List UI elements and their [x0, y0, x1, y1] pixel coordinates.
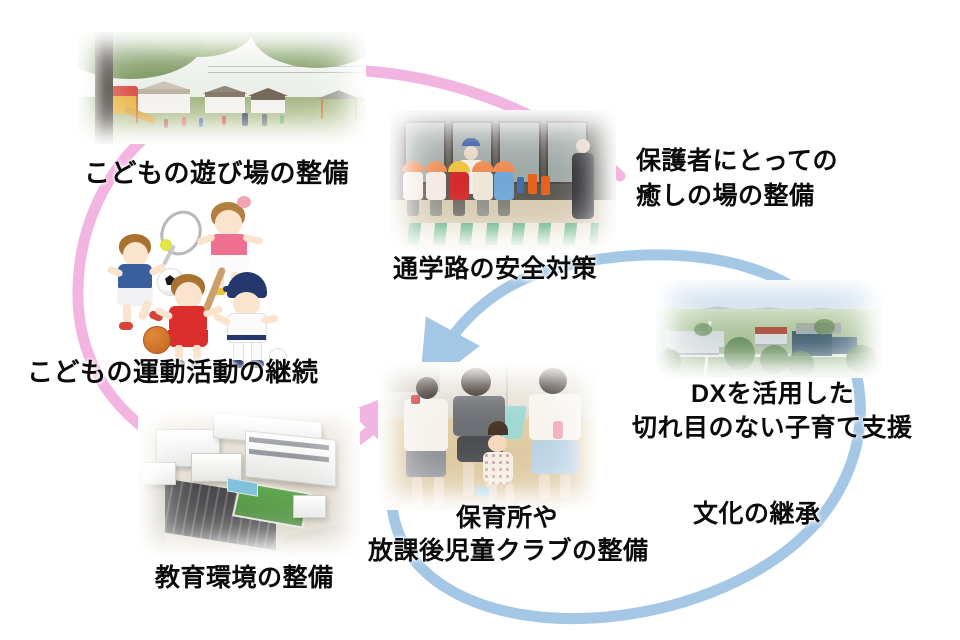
label-parent-healing-line2: 癒しの場の整備 — [636, 181, 815, 212]
playground-photo — [78, 32, 366, 144]
label-playground: こどもの遊び場の整備 — [84, 157, 349, 190]
sports-kids-illustration — [105, 196, 335, 346]
label-school-route-safety: 通学路の安全対策 — [393, 254, 597, 285]
diagram-canvas: こどもの遊び場の整備 保護者にとっての 癒しの場の整備 通学路の安全対策 こども… — [0, 0, 960, 640]
label-dx-childcare-line1: DXを活用した — [691, 379, 854, 410]
label-parent-healing-line1: 保護者にとっての — [636, 146, 838, 177]
label-nursery-afterschool-line2: 放課後児童クラブの整備 — [368, 536, 649, 567]
traffic-safety-photo — [390, 110, 616, 250]
label-culture-succession: 文化の継承 — [693, 499, 821, 530]
label-education-environment: 教育環境の整備 — [155, 563, 334, 594]
school-aerial-photo — [138, 408, 360, 558]
label-sports-activity: こどもの運動活動の継続 — [27, 356, 319, 389]
label-nursery-afterschool-line1: 保育所や — [456, 503, 558, 534]
aerial-town-photo — [656, 280, 882, 378]
label-dx-childcare-line2: 切れ目のない子育て支援 — [632, 413, 913, 444]
daycare-photo — [378, 362, 598, 510]
